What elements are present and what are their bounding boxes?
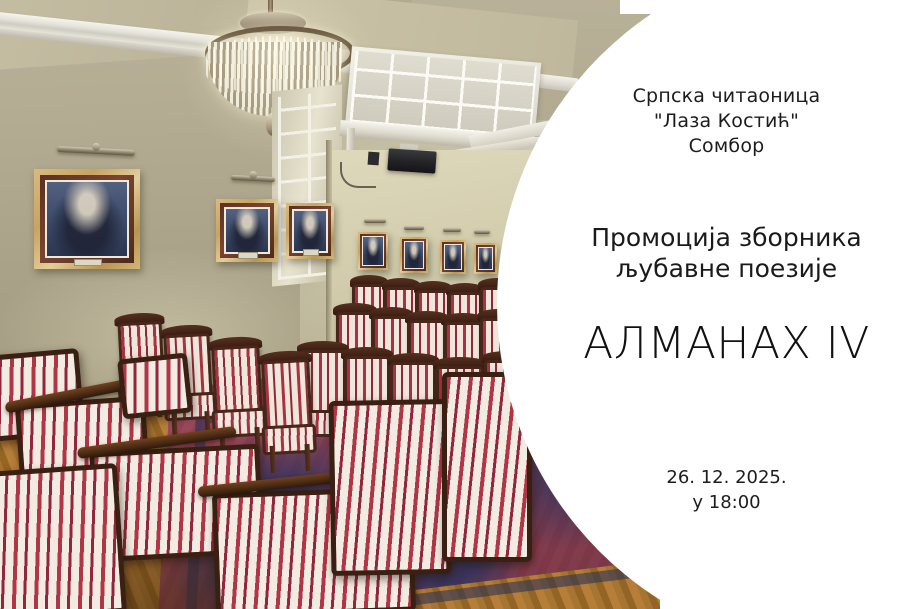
portrait-nameplate: [74, 259, 102, 266]
chair-foreground-5: [0, 463, 127, 609]
picture-light-knob: [249, 171, 257, 179]
picture-light-small-5: [474, 230, 490, 234]
picture-light-small-4: [443, 228, 461, 232]
projector-junction-box: [368, 152, 380, 166]
venue-block: Српска читаоница "Лаза Костић" Сомбор: [540, 84, 913, 159]
chair-foreground-8: [117, 353, 193, 420]
ceiling-projector: [387, 148, 436, 173]
framed-portrait-large: [34, 169, 140, 269]
framed-portrait-small-3: [440, 240, 466, 274]
event-time: у 18:00: [540, 490, 913, 515]
portrait-nameplate: [303, 249, 319, 256]
portrait-nameplate: [238, 252, 258, 259]
framed-portrait-small-2: [400, 237, 428, 273]
venue-line-1: Српска читаоница: [540, 84, 913, 109]
poster-text-panel: Српска читаоница "Лаза Костић" Сомбор Пр…: [540, 0, 913, 609]
picture-light-small-3: [404, 226, 424, 230]
venue-line-3: Сомбор: [540, 134, 913, 159]
event-datetime: 26. 12. 2025. у 18:00: [540, 465, 913, 515]
main-title: АЛМАНАХ IV: [540, 318, 913, 370]
picture-light-small-2: [364, 219, 386, 223]
event-poster: Српска читаоница "Лаза Костић" Сомбор Пр…: [0, 0, 913, 609]
event-subtitle: Промоција зборника љубавне поезије: [540, 222, 913, 284]
event-date: 26. 12. 2025.: [540, 465, 913, 490]
picture-light-knob: [92, 143, 100, 151]
framed-portrait-small-4: [474, 243, 497, 274]
framed-portrait-medium-1: [216, 199, 278, 262]
chair-left-column: [261, 359, 315, 473]
subtitle-line-1: Промоција зборника: [540, 222, 913, 253]
subtitle-line-2: љубавне поезије: [540, 253, 913, 284]
venue-line-2: "Лаза Костић": [540, 109, 913, 134]
framed-portrait-small-1: [358, 232, 388, 270]
chair-foreground-6: [328, 399, 451, 576]
framed-portrait-medium-2: [286, 203, 334, 259]
